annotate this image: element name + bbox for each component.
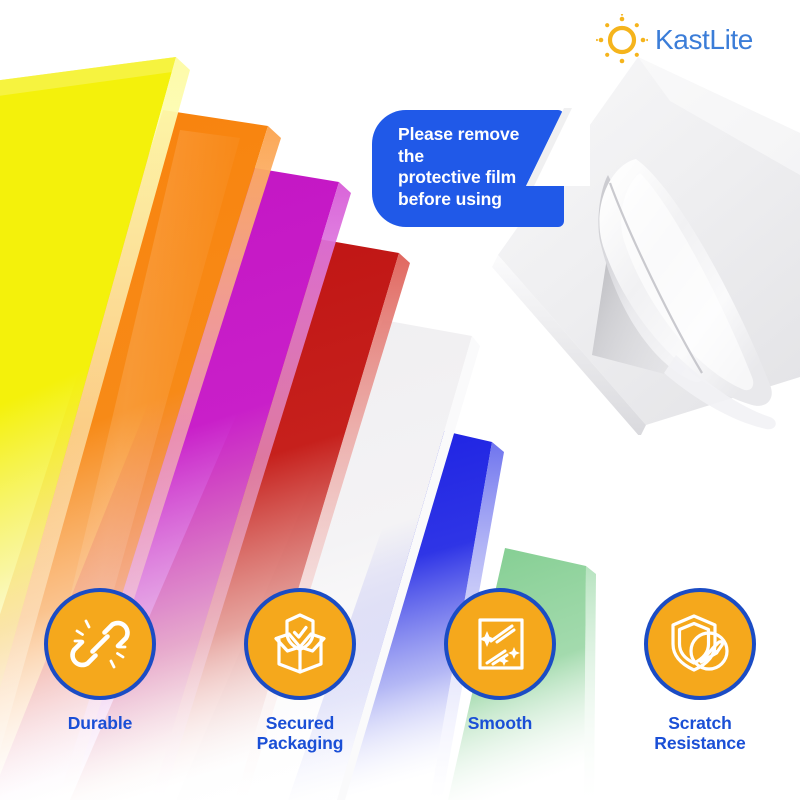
callout-bubble: Please remove the protective film before… (372, 110, 564, 227)
feature-secured-packaging[interactable]: Secured Packaging (200, 588, 400, 754)
feature-icon-circle (44, 588, 156, 700)
feature-smooth[interactable]: Smooth (400, 588, 600, 754)
callout-text: Please remove the protective film before… (398, 124, 546, 211)
brand-logo[interactable]: KastLite (596, 14, 753, 66)
chain-link-icon (67, 611, 133, 677)
feature-badge-row: Durable (0, 588, 800, 754)
feature-label: Durable (68, 713, 132, 733)
product-marketing-image: Please remove the protective film before… (0, 0, 800, 800)
feature-icon-circle (644, 588, 756, 700)
brand-name: KastLite (655, 26, 753, 54)
feature-icon-circle (444, 588, 556, 700)
sun-icon (596, 14, 648, 66)
shield-blade-icon (666, 610, 734, 678)
feature-icon-circle (244, 588, 356, 700)
feature-scratch-resistance[interactable]: Scratch Resistance (600, 588, 800, 754)
feature-label: Smooth (468, 713, 533, 733)
shield-box-icon (266, 610, 334, 678)
sparkle-panel-icon (467, 611, 533, 677)
feature-label: Scratch Resistance (654, 713, 745, 754)
feature-label: Secured Packaging (257, 713, 344, 754)
feature-durable[interactable]: Durable (0, 588, 200, 754)
